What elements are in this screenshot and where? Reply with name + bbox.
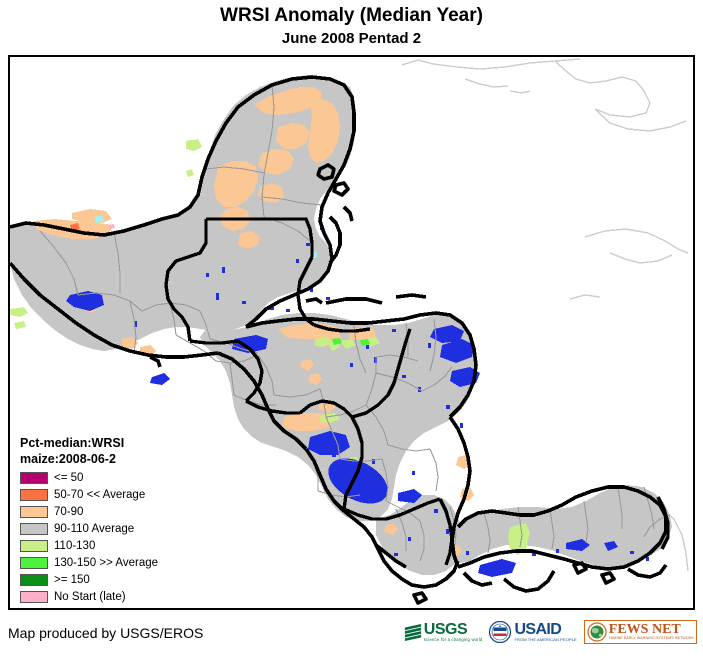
page-title: WRSI Anomaly (Median Year)	[0, 0, 703, 28]
usgs-wordmark: USGS	[424, 622, 483, 637]
legend-swatch-yet-to-start	[20, 608, 48, 610]
usgs-wave-icon	[404, 623, 422, 642]
legend-item-110-130: 110-130	[20, 538, 210, 554]
usaid-seal-icon	[489, 621, 511, 643]
page-subtitle: June 2008 Pentad 2	[0, 28, 703, 49]
legend-label-50-70: 50-70 << Average	[54, 489, 145, 501]
legend-item-90-110: 90-110 Average	[20, 521, 210, 537]
legend-item-gte-150: >= 150	[20, 572, 210, 588]
legend-swatch-50-70	[20, 489, 48, 501]
legend-swatch-70-90	[20, 506, 48, 518]
legend-label-110-130: 110-130	[54, 540, 95, 552]
legend-swatch-130-150	[20, 557, 48, 569]
legend-swatch-110-130	[20, 540, 48, 552]
map-frame[interactable]: Pct-median:WRSI maize:2008-06-2 <= 50 50…	[8, 55, 695, 610]
legend-label-lte-50: <= 50	[54, 472, 83, 484]
globe-icon	[587, 622, 607, 642]
legend-label-90-110: 90-110 Average	[54, 523, 134, 535]
legend-title-line1: Pct-median:WRSI	[20, 435, 210, 451]
legend-label-70-90: 70-90	[54, 506, 83, 518]
legend-item-70-90: 70-90	[20, 504, 210, 520]
legend-label-130-150: 130-150 >> Average	[54, 557, 158, 569]
partner-logos: USGS science for a changing world USAID …	[404, 620, 697, 644]
fews-tagline: FAMINE EARLY WARNING SYSTEMS NETWORK	[609, 636, 694, 641]
legend-label-yet-to-start: Yet to Start	[54, 608, 110, 610]
legend-title-line2: maize:2008-06-2	[20, 451, 210, 467]
legend-rows: <= 50 50-70 << Average 70-90 90-110 Aver…	[20, 470, 210, 610]
fews-wordmark: FEWS NET	[609, 623, 694, 636]
fews-net-logo[interactable]: FEWS NET FAMINE EARLY WARNING SYSTEMS NE…	[584, 620, 697, 644]
usaid-tagline: FROM THE AMERICAN PEOPLE	[514, 637, 576, 642]
legend-swatch-no-start	[20, 591, 48, 603]
map-credit: Map produced by USGS/EROS	[8, 625, 203, 641]
usaid-logo[interactable]: USAID FROM THE AMERICAN PEOPLE	[489, 621, 576, 643]
usgs-logo[interactable]: USGS science for a changing world	[404, 622, 483, 642]
legend-item-no-start: No Start (late)	[20, 589, 210, 605]
legend-item-130-150: 130-150 >> Average	[20, 555, 210, 571]
legend-item-yet-to-start: Yet to Start	[20, 606, 210, 610]
legend-swatch-lte-50	[20, 472, 48, 484]
legend-swatch-gte-150	[20, 574, 48, 586]
legend-label-gte-150: >= 150	[54, 574, 90, 586]
usgs-tagline: science for a changing world	[424, 637, 483, 642]
map-legend: Pct-median:WRSI maize:2008-06-2 <= 50 50…	[20, 435, 210, 610]
legend-item-50-70: 50-70 << Average	[20, 487, 210, 503]
legend-item-lte-50: <= 50	[20, 470, 210, 486]
usaid-wordmark: USAID	[514, 622, 576, 637]
legend-swatch-90-110	[20, 523, 48, 535]
legend-label-no-start: No Start (late)	[54, 591, 126, 603]
